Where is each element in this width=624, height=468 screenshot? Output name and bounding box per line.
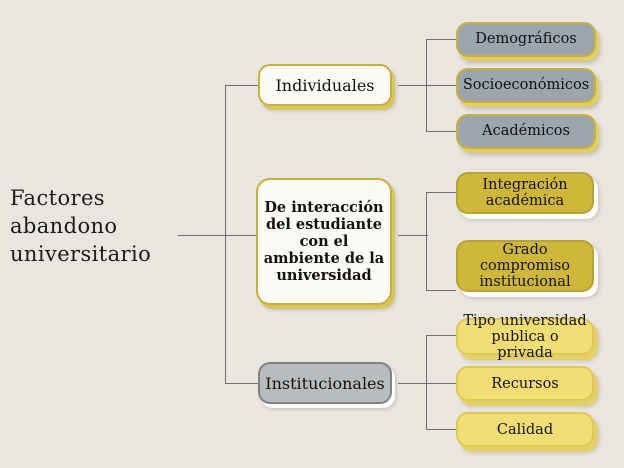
node-grado-compromiso-institucional[interactable]: Grado compromiso institucional — [456, 240, 594, 292]
connector-to-grado-compromiso — [426, 290, 456, 291]
connector-interaccion-stem — [398, 235, 428, 236]
connector-to-socioeconomicos — [426, 85, 456, 86]
node-socioeconomicos-label: Socioeconómicos — [459, 77, 593, 94]
connector-trunk-to-individuales — [225, 85, 258, 86]
node-individuales-label: Individuales — [271, 76, 378, 95]
node-tipo-universidad-label: Tipo universidad publica o privada — [458, 313, 592, 361]
node-recursos-label: Recursos — [487, 376, 563, 392]
node-tipo-universidad[interactable]: Tipo universidad publica o privada — [456, 318, 594, 355]
node-academicos-label: Académicos — [478, 123, 574, 140]
node-integracion-academica-label: Integración académica — [478, 177, 571, 209]
node-demograficos[interactable]: Demográficos — [456, 22, 596, 57]
connector-institucionales-stem — [398, 383, 428, 384]
connector-to-academicos — [426, 131, 456, 132]
connector-trunk-to-institucionales — [225, 383, 258, 384]
node-institucionales-label: Institucionales — [261, 374, 388, 393]
root-node-label: Factores abandono universitario — [10, 184, 180, 268]
node-demograficos-label: Demográficos — [471, 31, 581, 48]
node-calidad-label: Calidad — [493, 422, 557, 438]
node-interaccion-estudiante-label: De interacción del estudiante con el amb… — [260, 199, 388, 284]
connector-trunk-to-interaccion — [225, 235, 258, 236]
node-socioeconomicos[interactable]: Socioeconómicos — [456, 68, 596, 103]
connector-root-trunk — [178, 235, 226, 236]
connector-to-recursos — [426, 383, 456, 384]
node-academicos[interactable]: Académicos — [456, 114, 596, 149]
connector-to-demograficos — [426, 39, 456, 40]
node-calidad[interactable]: Calidad — [456, 412, 594, 447]
connector-interaccion-spine — [426, 192, 427, 290]
node-interaccion-estudiante[interactable]: De interacción del estudiante con el amb… — [256, 178, 392, 305]
connector-institucionales-spine — [426, 335, 427, 429]
node-grado-compromiso-institucional-label: Grado compromiso institucional — [475, 242, 574, 290]
node-recursos[interactable]: Recursos — [456, 366, 594, 401]
node-institucionales[interactable]: Institucionales — [258, 362, 392, 404]
connector-to-tipo-universidad — [426, 335, 456, 336]
connector-individuales-stem — [398, 85, 428, 86]
node-integracion-academica[interactable]: Integración académica — [456, 172, 594, 214]
diagram-canvas: Factores abandono universitario Individu… — [0, 0, 624, 468]
connector-to-integracion-academica — [426, 192, 456, 193]
connector-to-calidad — [426, 429, 456, 430]
node-individuales[interactable]: Individuales — [258, 64, 392, 106]
